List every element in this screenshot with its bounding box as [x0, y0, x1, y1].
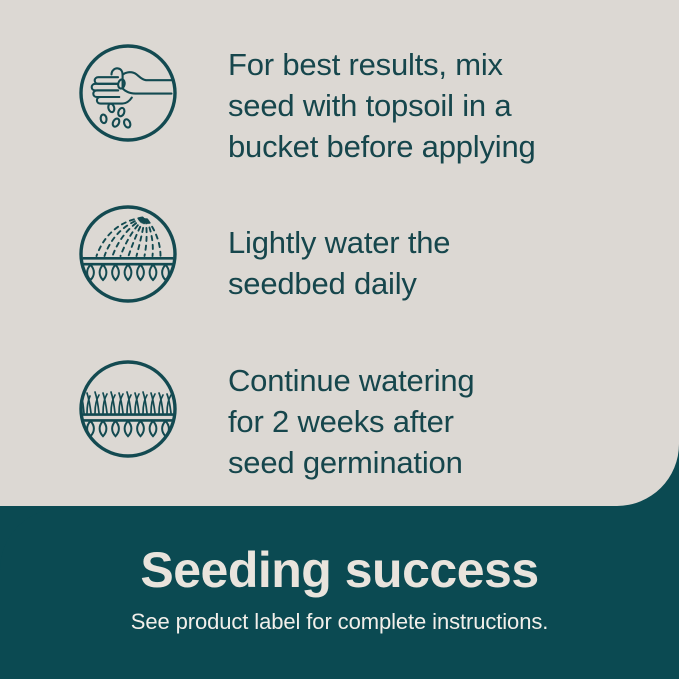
banner-subtitle: See product label for complete instructi… — [0, 597, 679, 635]
banner-content: Seeding success See product label for co… — [0, 508, 679, 635]
step-text-2: Lightly water the seedbed daily — [228, 204, 450, 305]
seeding-instructions-poster: For best results, mix seed with topsoil … — [0, 0, 679, 679]
seeding-success-banner: Seeding success See product label for co… — [0, 508, 679, 679]
step-item-1: For best results, mix seed with topsoil … — [78, 43, 536, 168]
hand-sowing-seed-icon — [78, 43, 178, 143]
watering-seedbed-icon — [78, 204, 178, 304]
grass-germination-icon — [78, 359, 178, 459]
step-item-3: Continue watering for 2 weeks after seed… — [78, 359, 474, 484]
step-text-1: For best results, mix seed with topsoil … — [228, 43, 536, 168]
banner-title: Seeding success — [0, 508, 679, 597]
step-item-2: Lightly water the seedbed daily — [78, 204, 450, 305]
step-text-3: Continue watering for 2 weeks after seed… — [228, 359, 474, 484]
